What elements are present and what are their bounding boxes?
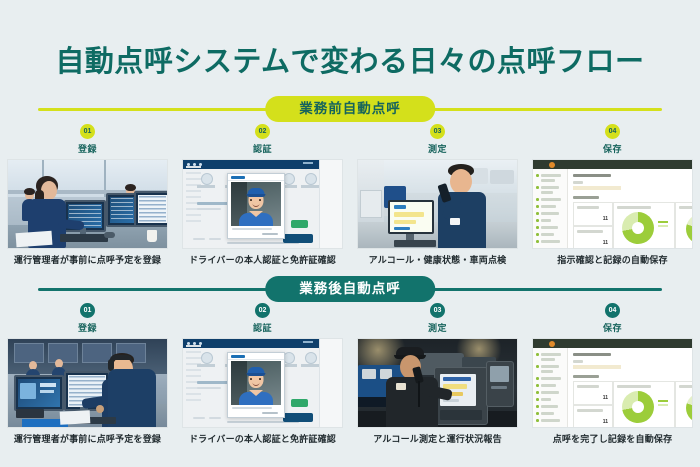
step-label: 登録 [78,142,97,155]
step-card-pre-02[interactable]: 02 認証 [175,124,350,267]
step-card-pre-03[interactable]: 03 測定 [350,124,525,267]
section-badge-pre-duty: 業務前自動点呼 [265,96,435,122]
step-number-badge: 03 [430,124,445,139]
step-image-dashboard-report: 11 11 [533,160,692,248]
step-card-pre-01[interactable]: 01 登録 [0,124,175,267]
step-caption: ドライバーの本人認証と免許証確認 [180,435,345,446]
step-caption: ドライバーの本人認証と免許証確認 [180,256,345,267]
step-card-pre-04[interactable]: 04 保存 [525,124,700,267]
step-label: 登録 [78,321,97,334]
step-number-badge: 03 [430,303,445,318]
step-label: 認証 [253,142,272,155]
step-image-office-female-operator [8,160,167,248]
step-label: 測定 [428,142,447,155]
step-card-post-04[interactable]: 04 保存 [525,303,700,446]
step-number-badge: 01 [80,124,95,139]
step-image-office-headset-operator [8,339,167,427]
step-label: 保存 [603,321,622,334]
step-card-post-03[interactable]: 03 測定 [350,303,525,446]
step-number-badge: 04 [605,303,620,318]
step-caption: アルコール・健康状態・車両点検 [355,256,520,267]
section-header-post-duty: 業務後自動点呼 [0,276,700,302]
step-row-pre-duty: 01 登録 [0,124,700,267]
step-caption: 指示確認と記録の自動保存 [530,256,695,267]
step-number-badge: 02 [255,303,270,318]
step-number-badge: 02 [255,124,270,139]
step-card-post-01[interactable]: 01 登録 [0,303,175,446]
step-label: 認証 [253,321,272,334]
step-image-ui-face-auth-modal [183,160,342,248]
step-caption: 運行管理者が事前に点呼予定を登録 [5,435,170,446]
step-number-badge: 04 [605,124,620,139]
step-caption: アルコール測定と運行状況報告 [355,435,520,446]
step-image-ui-face-auth-modal [183,339,342,427]
section-badge-post-duty: 業務後自動点呼 [265,276,435,302]
step-row-post-duty: 01 登録 [0,303,700,446]
step-image-alcohol-check-indoor [358,160,517,248]
step-caption: 運行管理者が事前に点呼予定を登録 [5,256,170,267]
step-label: 保存 [603,142,622,155]
step-card-post-02[interactable]: 02 認証 [175,303,350,446]
section-header-pre-duty: 業務前自動点呼 [0,96,700,122]
step-number-badge: 01 [80,303,95,318]
step-image-kiosk-night-terminal [358,339,517,427]
page-title: 自動点呼システムで変わる日々の点呼フロー [0,38,700,80]
infographic-page: 自動点呼システムで変わる日々の点呼フロー 業務前自動点呼 01 登録 [0,0,700,467]
step-caption: 点呼を完了し記録を自動保存 [530,435,695,446]
step-image-dashboard-report: 11 11 [533,339,692,427]
step-label: 測定 [428,321,447,334]
